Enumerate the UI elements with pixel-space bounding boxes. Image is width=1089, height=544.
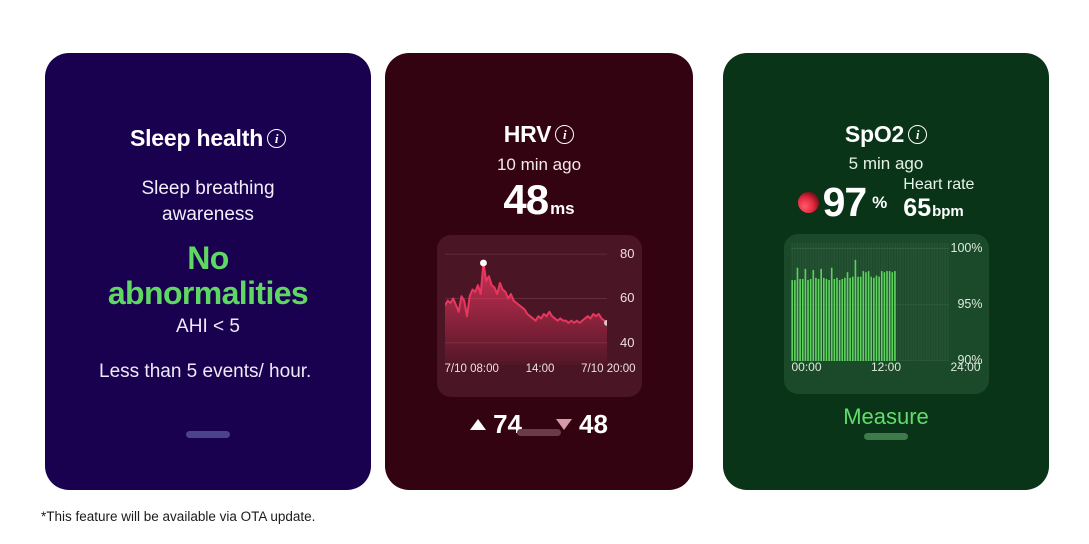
spo2-y-axis-labels: 100%95%90% [943,243,983,361]
heart-rate-row: 65 bpm [903,194,963,223]
home-indicator[interactable] [517,429,561,436]
footnote: *This feature will be available via OTA … [41,509,315,524]
hrv-time-ago: 10 min ago [497,155,581,175]
heart-rate-value: 65 [903,194,931,223]
home-indicator-bar [517,429,561,436]
info-icon[interactable]: i [267,129,286,148]
y-tick-label: 100% [951,241,983,255]
hrv-value-row: 48 ms [503,176,574,224]
hrv-stat-high: 74 [470,409,522,440]
spo2-chart-panel[interactable]: 100%95%90% 00:0012:0024:00 [784,234,989,394]
sleep-subtitle: Sleep breathing awareness [141,176,274,227]
hrv-value: 48 [503,176,548,224]
sleep-status: No abnormalities [108,241,308,310]
hrv-x-axis-labels: 7/10 08:0014:007/10 20:00 [445,363,636,375]
y-tick-label: 60 [620,290,634,305]
sleep-note: Less than 5 events/ hour. [65,360,351,385]
blood-drop-icon [798,192,819,213]
spo2-value-group: 97 % [798,182,888,223]
hrv-stat-low-value: 48 [579,409,608,440]
spo2-readings-row: 97 % Heart rate 65 bpm [798,176,975,223]
sleep-content: Sleep health i Sleep breathing awareness… [45,53,371,385]
hrv-stat-low: 48 [556,409,608,440]
x-tick-label: 7/10 20:00 [581,363,635,375]
page-root: Sleep health i Sleep breathing awareness… [0,0,1089,544]
sleep-title-row: Sleep health i [130,125,286,152]
hrv-trend-chart [445,243,607,365]
sleep-subtitle-line-2: awareness [141,202,274,228]
sleep-health-card[interactable]: Sleep health i Sleep breathing awareness… [45,53,371,490]
home-indicator[interactable] [864,433,908,440]
y-tick-label: 80 [620,246,634,261]
info-icon[interactable]: i [555,125,574,144]
x-tick-label: 14:00 [526,363,555,375]
x-tick-label: 12:00 [871,360,901,374]
spo2-title: SpO2 [845,121,904,148]
sleep-status-line-2: abnormalities [108,276,308,311]
hrv-card[interactable]: HRV i 10 min ago 48 ms 806040 7/10 08:00… [385,53,693,490]
y-tick-label: 40 [620,335,634,350]
x-tick-label: 00:00 [792,360,822,374]
x-tick-label: 7/10 08:00 [445,363,499,375]
sleep-status-line-1: No [108,241,308,276]
spo2-x-axis-labels: 00:0012:0024:00 [792,360,981,374]
hrv-title-row: HRV i [504,121,575,148]
hrv-title: HRV [504,121,552,148]
home-indicator[interactable] [186,431,230,438]
home-indicator-bar [186,431,230,438]
spo2-time-ago: 5 min ago [849,154,924,174]
hrv-y-axis-labels: 806040 [603,243,635,365]
measure-button[interactable]: Measure [843,404,929,430]
triangle-up-icon [470,419,486,430]
sleep-subtitle-line-1: Sleep breathing [141,176,274,202]
spo2-unit: % [872,193,887,213]
spo2-title-row: SpO2 i [845,121,927,148]
heart-rate-unit: bpm [932,203,964,220]
hrv-chart-panel[interactable]: 806040 7/10 08:0014:007/10 20:00 [437,235,642,397]
info-icon[interactable]: i [908,125,927,144]
home-indicator-bar [864,433,908,440]
heart-rate-label: Heart rate [903,176,974,194]
sleep-title: Sleep health [130,125,263,152]
spo2-value: 97 [823,182,867,223]
hrv-unit: ms [550,199,575,219]
sleep-ahi-value: AHI < 5 [176,316,240,338]
spo2-card[interactable]: SpO2 i 5 min ago 97 % Heart rate 65 bpm … [723,53,1049,490]
x-tick-label: 24:00 [950,360,980,374]
heart-rate-group: Heart rate 65 bpm [903,176,974,223]
y-tick-label: 95% [957,297,982,311]
spo2-daily-chart [791,243,949,361]
